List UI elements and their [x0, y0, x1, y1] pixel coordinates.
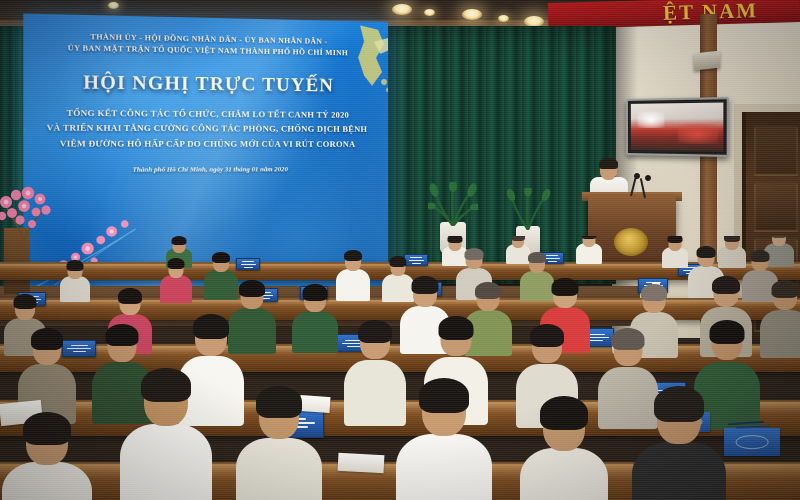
attendee [160, 258, 192, 300]
slide-subtitle-line-3: VIÊM ĐƯỜNG HÔ HẤP CẤP DO CHỦNG MỚI CỦA V… [39, 137, 374, 153]
attendee [292, 284, 338, 350]
microphone-head-icon [645, 175, 651, 181]
document-paper [338, 453, 385, 473]
wall-speaker-icon [694, 51, 720, 71]
potted-plant-icon [428, 182, 478, 226]
door-panel [754, 182, 798, 232]
attendee [60, 260, 90, 300]
slide-subtitle-line-2: VÀ TRIỂN KHAI TĂNG CƯỜNG CÔNG TÁC PHÒNG,… [39, 121, 374, 137]
potted-plant-icon [504, 188, 552, 230]
document-folder [724, 428, 780, 456]
ceiling-light-icon [424, 9, 435, 16]
ceiling-light-icon [392, 4, 412, 15]
attendee [760, 280, 800, 356]
door-panel [754, 126, 798, 176]
peach-blossom-icon [0, 186, 54, 242]
conference-hall-photo: ỆT NAM THÀNH ỦY - HỘI ĐỒNG NHÂN DÂN - ỦY… [0, 0, 800, 500]
ceiling-light-icon [498, 15, 509, 22]
tv-video-feed [631, 102, 724, 151]
ceiling-light-icon [462, 9, 482, 20]
ceiling-light-icon [108, 2, 119, 9]
presenter-hair [599, 158, 618, 169]
attendee-foreground [2, 412, 92, 500]
attendee-foreground [396, 378, 492, 500]
slide-map-graphic-icon [314, 22, 388, 102]
wall-tv[interactable] [626, 97, 729, 157]
attendee-foreground [236, 386, 322, 500]
audience-area [0, 236, 800, 500]
attendee [662, 236, 688, 266]
attendee-foreground [632, 386, 726, 500]
slide-date: Thành phố Hồ Chí Minh, ngày 31 tháng 01 … [39, 166, 374, 174]
desk-nameplate [236, 258, 260, 270]
attendee [336, 250, 370, 298]
attendee-foreground [520, 396, 608, 500]
attendee [576, 236, 602, 262]
attendee-foreground [120, 368, 212, 500]
